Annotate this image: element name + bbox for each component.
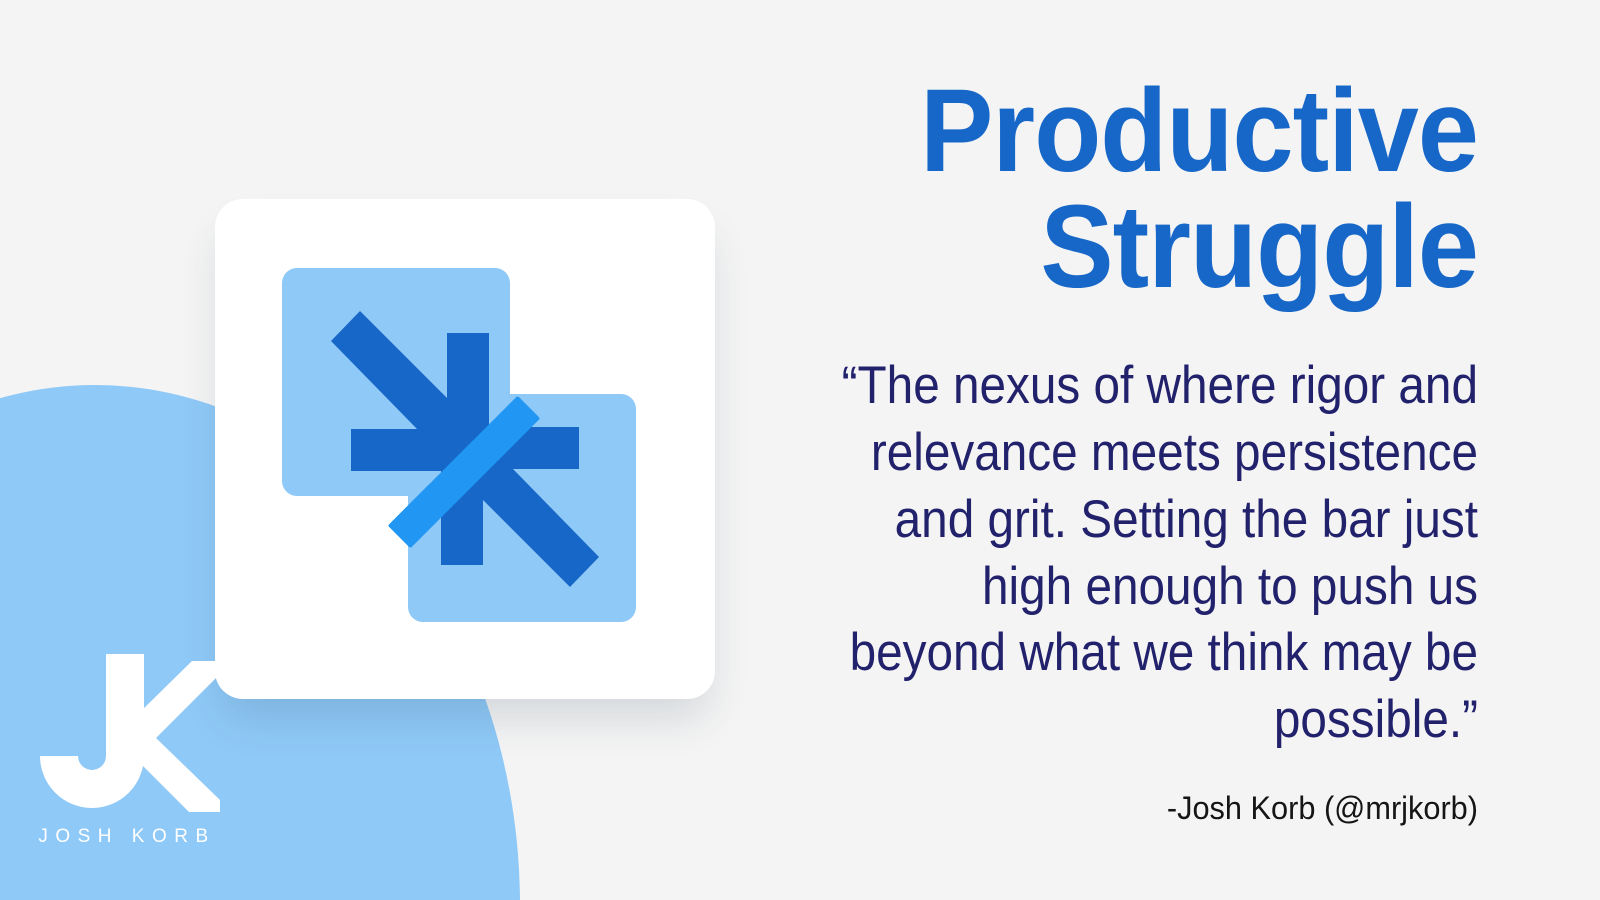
page-title: Productive Struggle bbox=[799, 0, 1478, 305]
slide-canvas: JOSH KORB Productive Struggle “The nexus… bbox=[0, 0, 1600, 900]
text-column: Productive Struggle “The nexus of where … bbox=[748, 0, 1478, 900]
brand-logo: JOSH KORB bbox=[34, 648, 254, 863]
icon-card bbox=[215, 199, 715, 699]
brand-wordmark: JOSH KORB bbox=[34, 826, 220, 848]
jk-monogram-icon bbox=[34, 648, 224, 813]
quote-text: “The nexus of where rigor and relevance … bbox=[821, 305, 1478, 754]
quote-attribution: -Josh Korb (@mrjkorb) bbox=[777, 754, 1478, 827]
merge-arrows-icon bbox=[215, 199, 715, 699]
